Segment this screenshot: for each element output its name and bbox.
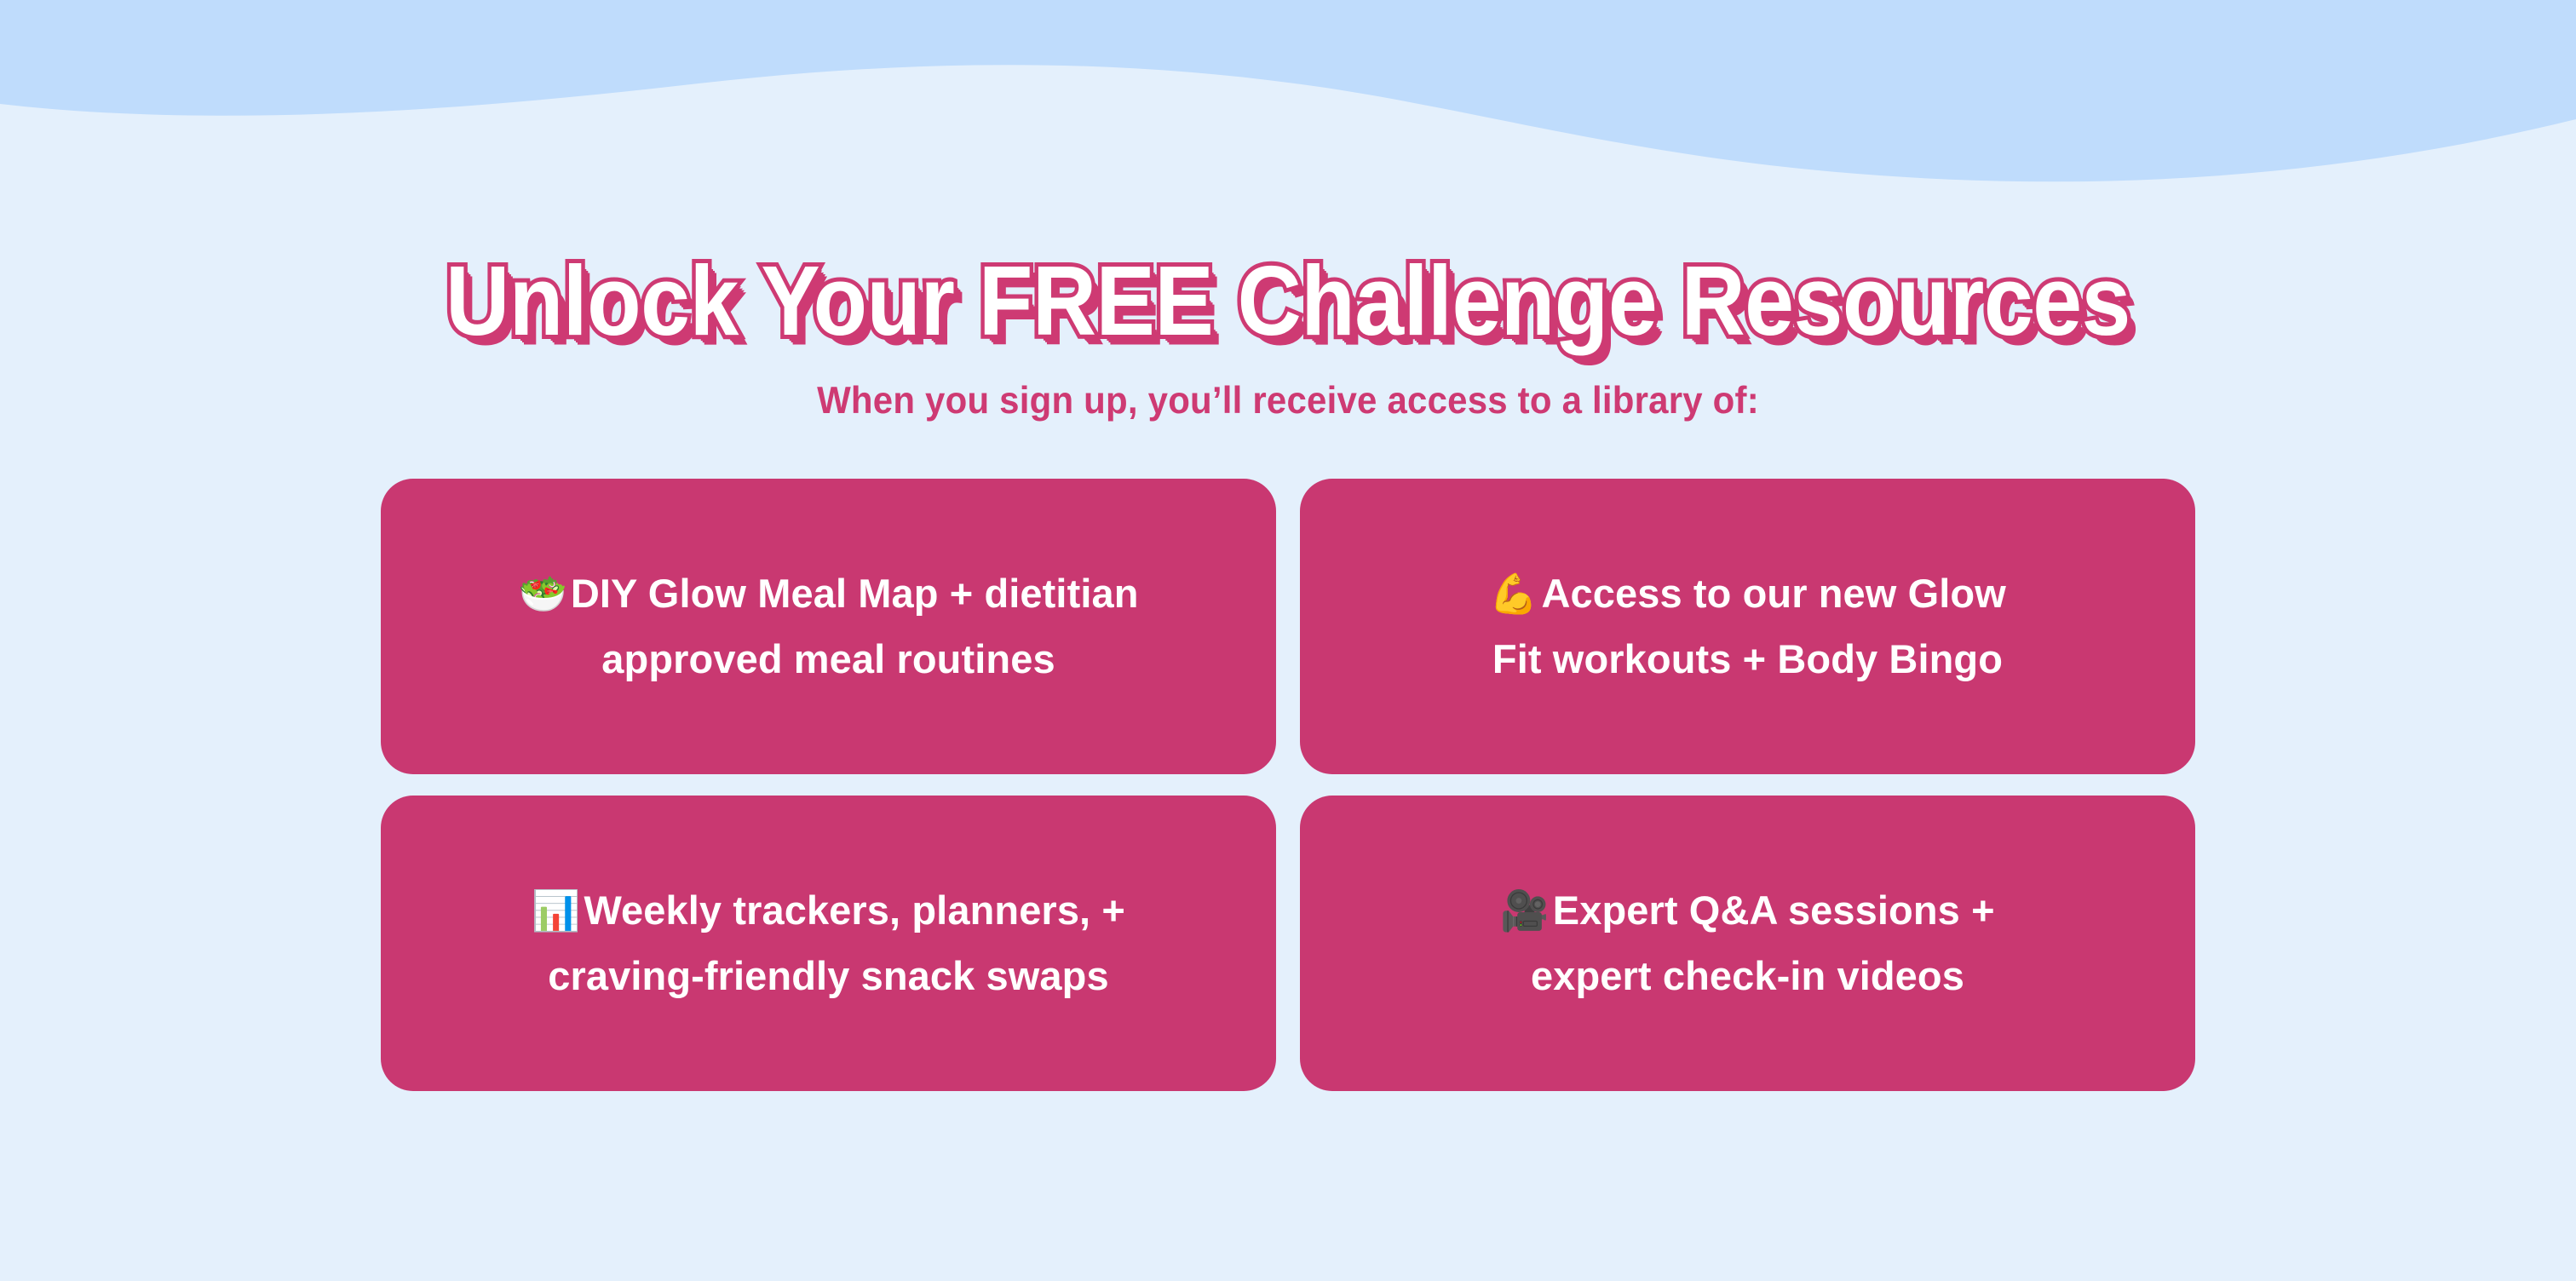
resource-card-glow-fit[interactable]: 💪Access to our new Glow Fit workouts + B… <box>1300 479 2195 774</box>
bar-chart-icon: 📊 <box>532 888 580 933</box>
card-line-2: approved meal routines <box>601 636 1055 681</box>
headline-container: Unlock Your FREE Challenge Resources <box>0 252 2576 351</box>
card-line-1: DIY Glow Meal Map + dietitian <box>571 571 1139 616</box>
green-salad-icon: 🥗 <box>518 572 566 616</box>
resource-card-expert-qa[interactable]: 🎥Expert Q&A sessions + expert check-in v… <box>1300 796 2195 1091</box>
flexed-biceps-icon: 💪 <box>1489 572 1538 616</box>
card-line-2: craving-friendly snack swaps <box>548 953 1108 998</box>
card-line-2: Fit workouts + Body Bingo <box>1492 636 2003 681</box>
resource-card-trackers[interactable]: 📊Weekly trackers, planners, + craving-fr… <box>381 796 1276 1091</box>
card-line-1: Access to our new Glow <box>1541 571 2005 616</box>
promo-page: Unlock Your FREE Challenge Resources Whe… <box>0 0 2576 1281</box>
card-line-2: expert check-in videos <box>1531 953 1964 998</box>
movie-camera-icon: 🎥 <box>1500 888 1549 933</box>
page-title: Unlock Your FREE Challenge Resources <box>446 252 2130 351</box>
card-line-1: Weekly trackers, planners, + <box>584 888 1125 933</box>
card-text-block: 🥗DIY Glow Meal Map + dietitian approved … <box>518 561 1138 691</box>
card-text-block: 💪Access to our new Glow Fit workouts + B… <box>1489 561 2006 691</box>
card-text-block: 🎥Expert Q&A sessions + expert check-in v… <box>1500 878 1994 1008</box>
card-text-block: 📊Weekly trackers, planners, + craving-fr… <box>532 878 1125 1008</box>
resource-card-meal-map[interactable]: 🥗DIY Glow Meal Map + dietitian approved … <box>381 479 1276 774</box>
card-line-1: Expert Q&A sessions + <box>1553 888 1995 933</box>
page-subtitle: When you sign up, you’ll receive access … <box>817 379 1759 422</box>
resource-card-grid: 🥗DIY Glow Meal Map + dietitian approved … <box>381 479 2195 1091</box>
